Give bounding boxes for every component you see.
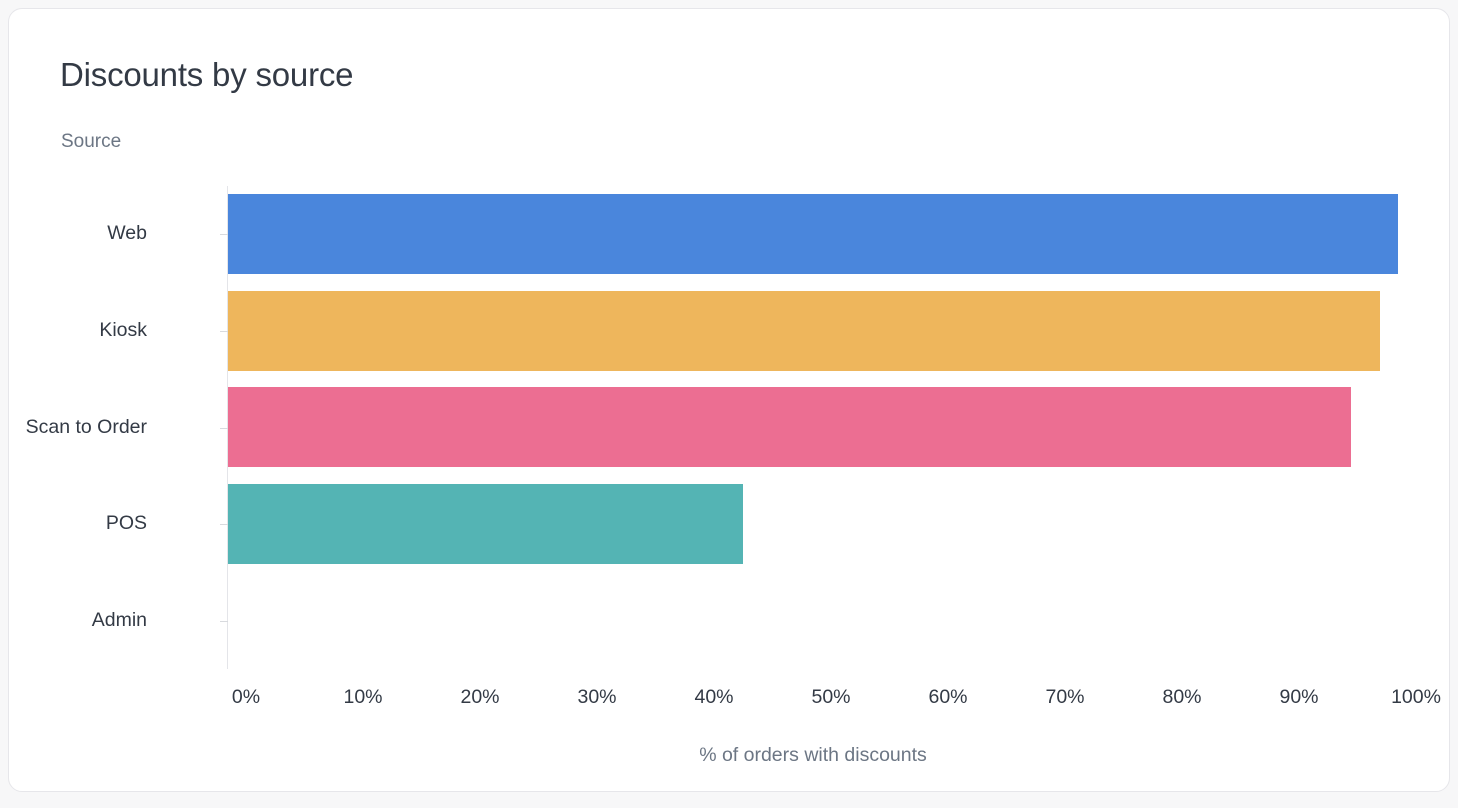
x-tick-label-50pct: 50% [811,688,850,708]
bar-kiosk[interactable] [228,291,1380,371]
x-tick-label-0pct: 0% [232,688,260,708]
bar-scan-to-order[interactable] [228,387,1351,467]
y-tick-label-admin: Admin [92,611,147,631]
y-tick-mark [220,621,228,622]
x-axis-title: % of orders with discounts [228,744,1398,767]
bar-row [228,186,1398,283]
y-tick-label-pos: POS [106,514,147,534]
x-tick-label-100pct: 100% [1391,688,1441,708]
bar-row [228,476,1398,573]
y-tick-mark [220,331,228,332]
y-axis-title: Source [61,131,121,153]
y-tick-label-scan-to-order: Scan to Order [26,418,147,438]
x-tick-label-70pct: 70% [1045,688,1084,708]
x-tick-label-60pct: 60% [928,688,967,708]
y-tick-label-web: Web [107,224,147,244]
x-tick-label-30pct: 30% [577,688,616,708]
y-tick-mark [220,428,228,429]
bar-row [228,283,1398,380]
bar-pos[interactable] [228,484,743,564]
x-tick-label-80pct: 80% [1162,688,1201,708]
y-tick-mark [220,524,228,525]
bar-web[interactable] [228,194,1398,274]
bar-row [228,572,1398,669]
y-tick-label-kiosk: Kiosk [99,321,147,341]
x-tick-label-20pct: 20% [460,688,499,708]
x-tick-label-90pct: 90% [1279,688,1318,708]
plot-area: WebKioskScan to OrderPOSAdmin 0%10%20%30… [228,186,1398,669]
y-tick-mark [220,234,228,235]
page-title: Discounts by source [60,56,353,94]
x-tick-label-40pct: 40% [694,688,733,708]
x-tick-label-10pct: 10% [343,688,382,708]
bar-row [228,379,1398,476]
chart-card: Discounts by source Source WebKioskScan … [8,8,1450,792]
